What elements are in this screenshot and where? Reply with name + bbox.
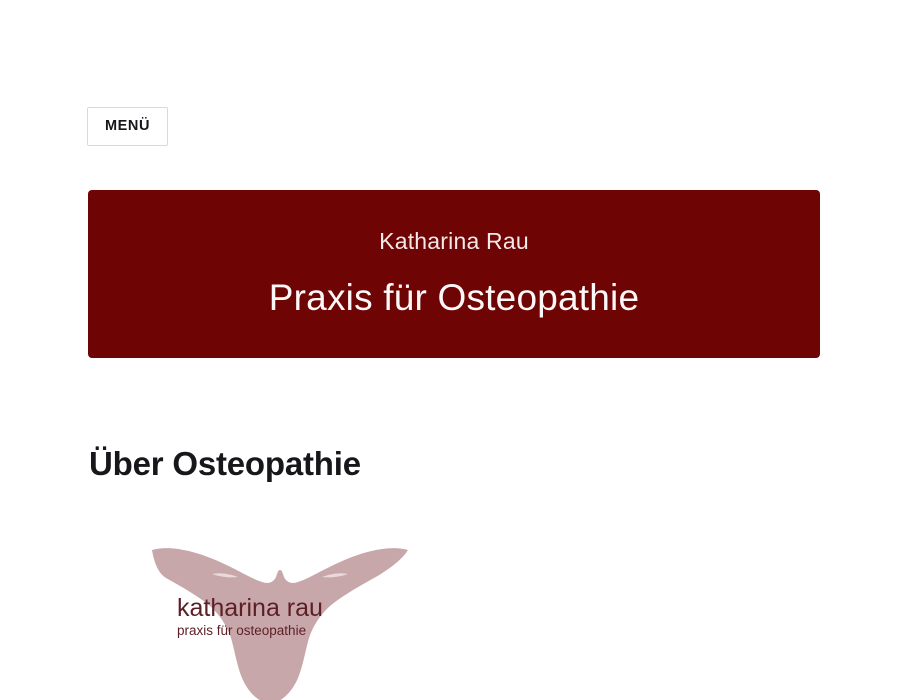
practice-logo-image: katharina rau praxis für osteopathie [150,530,412,700]
hero-subtitle: Katharina Rau [363,228,545,256]
logo-graphic: katharina rau praxis für osteopathie [150,530,412,700]
logo-wordmark: katharina rau [177,594,323,622]
hero-title: Praxis für Osteopathie [253,276,655,320]
logo-tagline: praxis für osteopathie [177,623,306,638]
page-title: Über Osteopathie [89,443,361,484]
site-hero-banner: Katharina Rau Praxis für Osteopathie [88,190,820,358]
page-root: MENÜ Katharina Rau Praxis für Osteopathi… [0,0,907,700]
menu-toggle-label: MENÜ [105,119,150,134]
menu-toggle-button[interactable]: MENÜ [87,107,168,146]
